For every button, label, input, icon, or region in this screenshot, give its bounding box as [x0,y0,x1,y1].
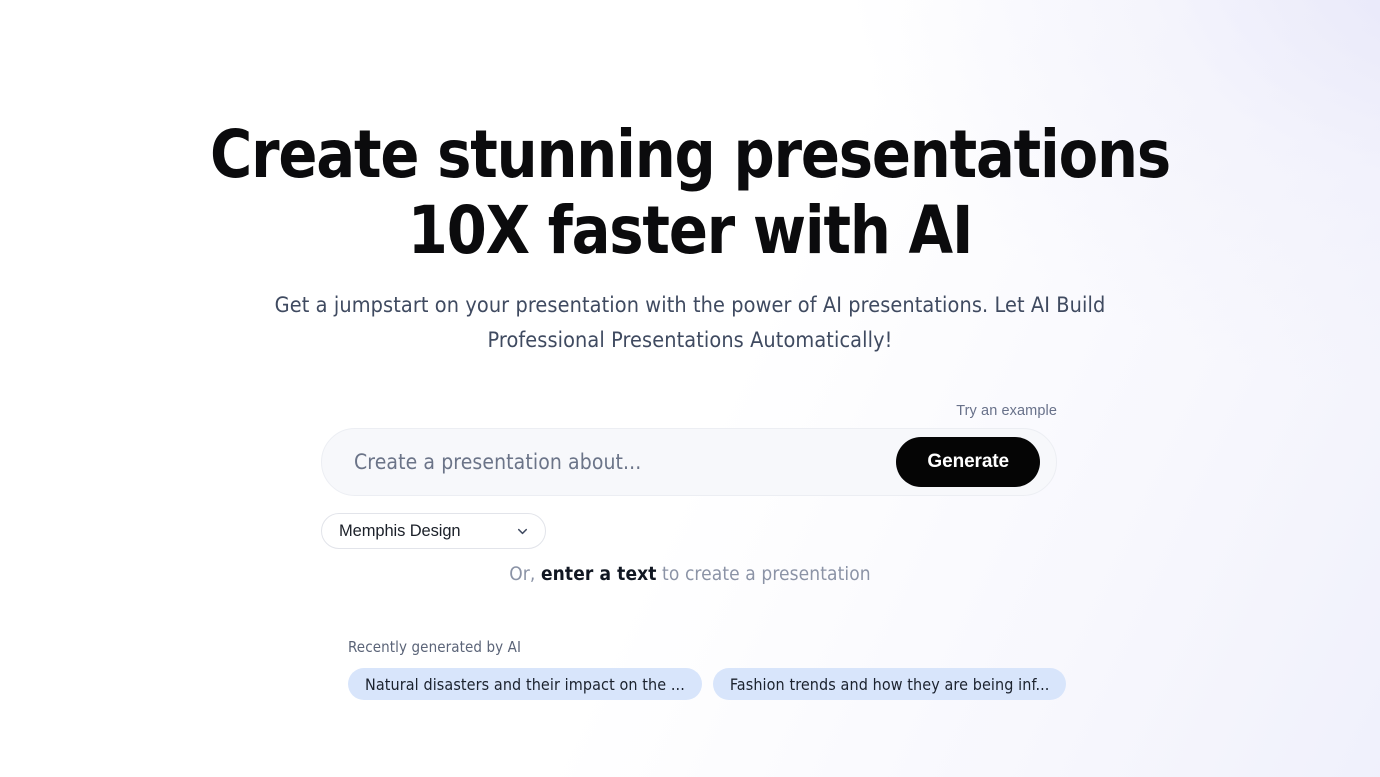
generate-button[interactable]: Generate [896,437,1040,487]
presentation-style-select[interactable]: Memphis Design [321,513,546,549]
headline-line-1: Create stunning presentations [21,117,1360,193]
alt-action-suffix: to create a presentation [657,563,871,585]
page-title: Create stunning presentations 10X faster… [21,117,1360,269]
try-an-example-link[interactable]: Try an example [956,403,1057,419]
recently-generated-chips: Natural disasters and their impact on th… [348,668,1048,700]
alternate-action-line: Or, enter a text to create a presentatio… [0,563,1380,585]
prompt-input-shell[interactable]: Generate [321,428,1057,496]
recently-generated-title: Recently generated by AI [348,638,1048,656]
subtitle-line-2: Professional Presentations Automatically… [240,323,1140,358]
prompt-area: Try an example Generate Memphis Design [321,403,1057,549]
subtitle-line-1: Get a jumpstart on your presentation wit… [240,288,1140,323]
alt-action-prefix: Or, [509,563,541,585]
presentation-style-value: Memphis Design [339,522,460,541]
enter-a-text-link[interactable]: enter a text [541,563,657,585]
try-example-row: Try an example [321,403,1057,419]
recent-chip[interactable]: Natural disasters and their impact on th… [348,668,702,700]
headline-line-2: 10X faster with AI [21,193,1360,269]
recent-chip[interactable]: Fashion trends and how they are being in… [713,668,1067,700]
chevron-down-icon [515,524,530,539]
recently-generated-section: Recently generated by AI Natural disaste… [348,638,1048,700]
page-subtitle: Get a jumpstart on your presentation wit… [240,288,1140,358]
landing-page: Create stunning presentations 10X faster… [0,0,1380,777]
